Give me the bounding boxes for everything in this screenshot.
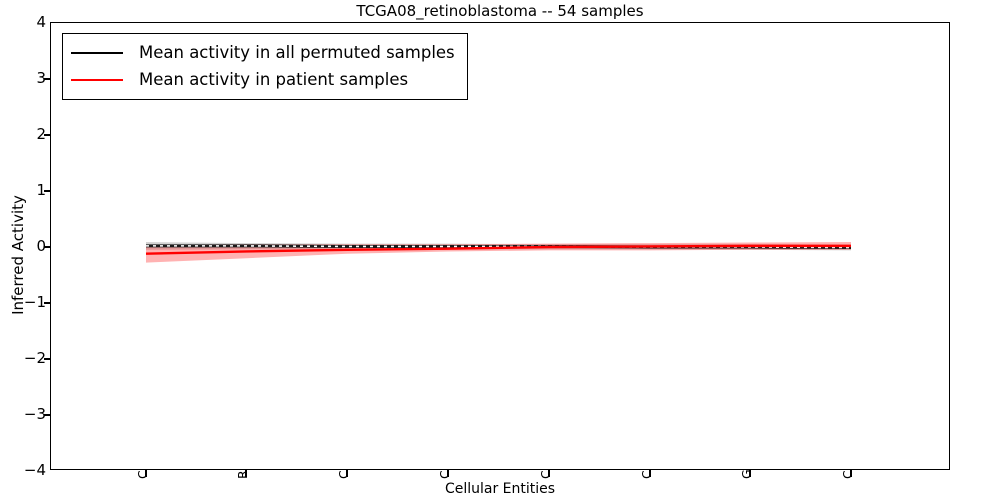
y-axis-label: Inferred Activity: [9, 55, 27, 455]
y-tick-label-neg3: −3: [6, 405, 46, 423]
y-tick-label-3: 3: [6, 69, 46, 87]
y-tick-label-neg4: −4: [6, 461, 46, 479]
legend: Mean activity in all permuted samples Me…: [62, 33, 468, 100]
chart-figure: TCGA08_retinoblastoma -- 54 samples Infe…: [0, 0, 1000, 500]
chart-title: TCGA08_retinoblastoma -- 54 samples: [0, 2, 1000, 20]
legend-entry-patient: Mean activity in patient samples: [71, 66, 455, 93]
x-axis-label: Cellular Entities: [0, 481, 1000, 497]
y-tick-label-4: 4: [6, 13, 46, 31]
y-tick-label-2: 2: [6, 125, 46, 143]
legend-swatch-permuted: [71, 52, 123, 54]
y-tick-label-0: 0: [6, 237, 46, 255]
legend-swatch-patient: [71, 79, 123, 81]
legend-entry-permuted: Mean activity in all permuted samples: [71, 39, 455, 66]
legend-label-permuted: Mean activity in all permuted samples: [139, 43, 455, 62]
y-tick-label-neg1: −1: [6, 293, 46, 311]
y-tick-label-neg2: −2: [6, 349, 46, 367]
legend-label-patient: Mean activity in patient samples: [139, 70, 408, 89]
y-tick-label-1: 1: [6, 181, 46, 199]
